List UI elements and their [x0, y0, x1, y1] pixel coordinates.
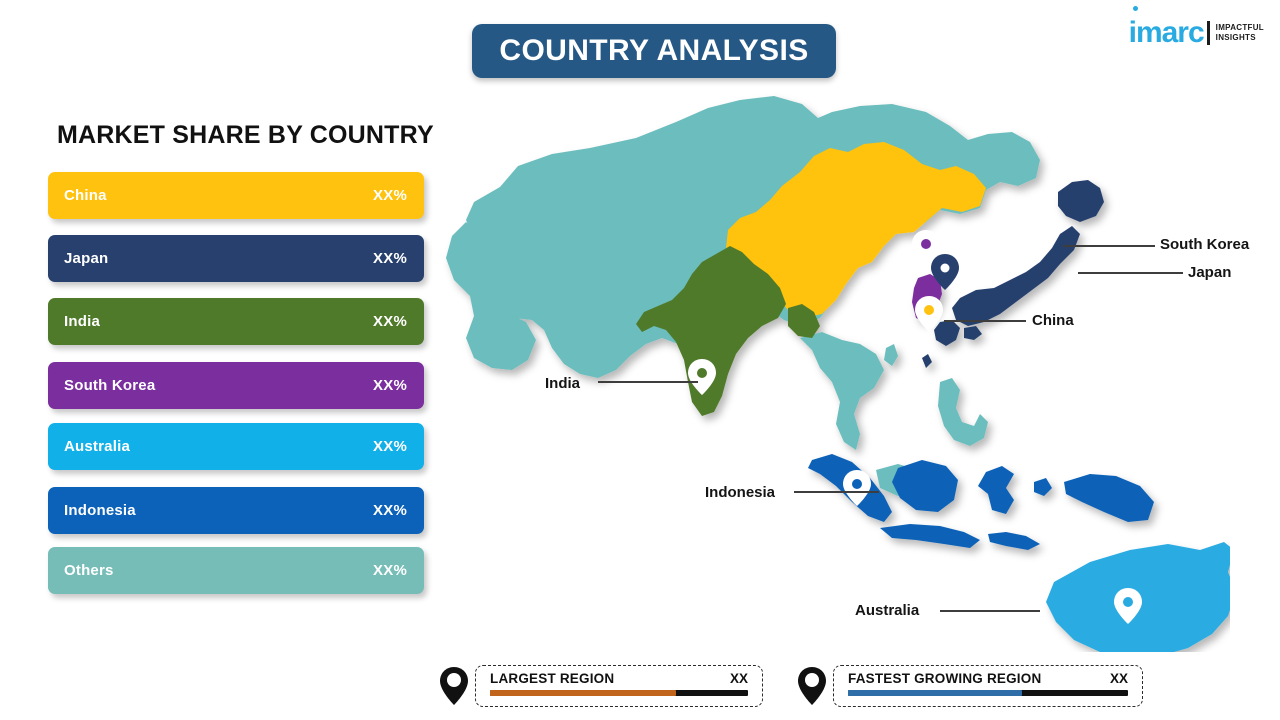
market-share-heading: MARKET SHARE BY COUNTRY [57, 121, 434, 150]
asia-pacific-map [440, 82, 1230, 652]
market-share-bar-value: XX% [373, 502, 407, 519]
region-indonesia-maluku [1034, 478, 1052, 496]
map-label-japan: Japan [1188, 264, 1231, 281]
region-legend-value: XX [730, 671, 748, 686]
logo-tagline-line2: INSIGHTS [1216, 33, 1256, 42]
map-label-china: China [1032, 312, 1074, 329]
page-title: COUNTRY ANALYSIS [499, 34, 808, 68]
region-legend-box: LARGEST REGIONXX [475, 665, 763, 707]
region-indonesia-sulawesi [978, 466, 1014, 514]
region-others-sea [800, 332, 884, 450]
market-share-bar-value: XX% [373, 438, 407, 455]
region-legend-label: FASTEST GROWING REGION [848, 671, 1041, 686]
region-legend: FASTEST GROWING REGIONXX [795, 664, 1143, 708]
market-share-bar[interactable]: South KoreaXX% [48, 362, 424, 409]
region-legend-progress-track [490, 690, 748, 696]
region-indonesia-borneo [892, 460, 958, 512]
region-legend-progress-track [848, 690, 1128, 696]
region-japan-kyushu [934, 320, 960, 346]
map-label-south-korea: South Korea [1160, 236, 1249, 253]
map-label-indonesia: Indonesia [705, 484, 775, 501]
market-share-bar[interactable]: AustraliaXX% [48, 423, 424, 470]
region-legend-box: FASTEST GROWING REGIONXX [833, 665, 1143, 707]
region-japan-shikoku [964, 326, 982, 340]
leader-line-china [944, 320, 1026, 322]
market-share-bar[interactable]: ChinaXX% [48, 172, 424, 219]
leader-line-australia [940, 610, 1040, 612]
region-indonesia-java [880, 524, 980, 548]
map-pin-icon [795, 665, 829, 707]
market-share-bar-label: Australia [64, 438, 130, 455]
region-others-philippines [938, 378, 988, 446]
logo-divider [1207, 21, 1210, 45]
market-share-bar-label: Others [64, 562, 114, 579]
region-legend: LARGEST REGIONXX [437, 664, 763, 708]
market-share-bar-label: Indonesia [64, 502, 136, 519]
region-japan-honshu [952, 226, 1080, 326]
leader-line-south-korea [1063, 245, 1155, 247]
market-share-bar-value: XX% [373, 187, 407, 204]
leader-line-india [598, 381, 698, 383]
market-share-bar-label: India [64, 313, 100, 330]
page-title-banner: COUNTRY ANALYSIS [472, 24, 836, 78]
leader-line-indonesia [794, 491, 879, 493]
market-share-bar[interactable]: OthersXX% [48, 547, 424, 594]
map-label-australia: Australia [855, 602, 919, 619]
region-legend-label: LARGEST REGION [490, 671, 614, 686]
market-share-bar-label: South Korea [64, 377, 155, 394]
region-legend-value: XX [1110, 671, 1128, 686]
region-legend-progress-fill [490, 690, 676, 696]
market-share-bar-value: XX% [373, 377, 407, 394]
region-indonesia-lesser-sunda [988, 532, 1040, 550]
region-legend-progress-fill [848, 690, 1022, 696]
region-japan-hokkaido [1058, 180, 1104, 222]
market-share-bar[interactable]: IndiaXX% [48, 298, 424, 345]
logo-tagline: IMPACTFUL INSIGHTS [1216, 23, 1264, 43]
market-share-bar-value: XX% [373, 562, 407, 579]
region-indonesia-papua [1064, 474, 1154, 522]
market-share-bar[interactable]: JapanXX% [48, 235, 424, 282]
imarc-logo: imarc IMPACTFUL INSIGHTS [1129, 14, 1264, 52]
market-share-bar[interactable]: IndonesiaXX% [48, 487, 424, 534]
market-share-bar-label: Japan [64, 250, 108, 267]
logo-tagline-line1: IMPACTFUL [1216, 23, 1264, 32]
map-label-india: India [545, 375, 580, 392]
leader-line-japan [1078, 272, 1183, 274]
region-japan-ryukyu [922, 354, 932, 368]
region-others-taiwan [884, 344, 898, 366]
logo-wordmark: imarc [1129, 18, 1204, 48]
market-share-bar-value: XX% [373, 313, 407, 330]
market-share-bar-label: China [64, 187, 107, 204]
market-share-bar-value: XX% [373, 250, 407, 267]
logo-dot-icon [1133, 6, 1138, 11]
map-pin-icon [437, 665, 471, 707]
